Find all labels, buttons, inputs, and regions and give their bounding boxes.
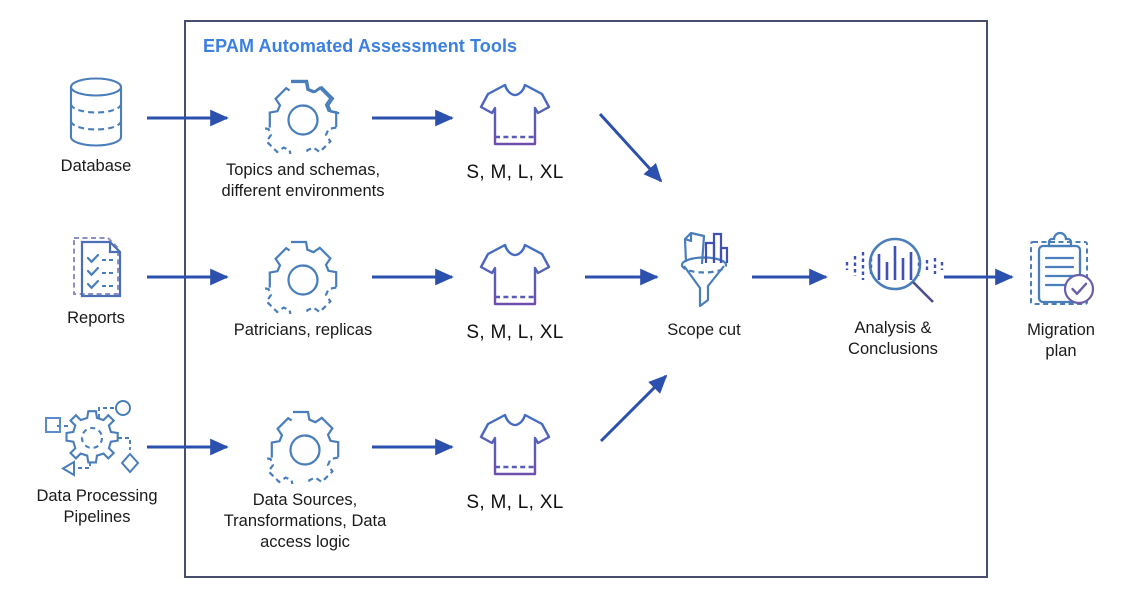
node-tshirt-size-2[interactable]: S, M, L, XL (455, 240, 575, 344)
node-label: Patricians, replicas (234, 320, 372, 341)
gear-icon (265, 78, 341, 154)
database-cylinder-icon (63, 74, 129, 150)
funnel-icon (658, 222, 750, 314)
gear-icon (265, 238, 341, 314)
node-tshirt-size-3[interactable]: S, M, L, XL (455, 410, 575, 514)
node-data-processing-pipelines[interactable]: Data Processing Pipelines (18, 396, 176, 528)
magnifier-chart-icon (837, 232, 949, 312)
page-title: EPAM Automated Assessment Tools (203, 36, 517, 57)
node-analysis-conclusions[interactable]: Analysis & Conclusions (826, 232, 960, 360)
node-label: S, M, L, XL (466, 322, 563, 344)
node-label: S, M, L, XL (466, 492, 563, 514)
tshirt-icon (475, 240, 555, 312)
tshirt-icon (475, 410, 555, 482)
node-scope-cut[interactable]: Scope cut (645, 222, 763, 341)
gear-icon (267, 408, 343, 484)
node-assessment-data-sources[interactable]: Data Sources, Transformations, Data acce… (198, 408, 412, 553)
node-database[interactable]: Database (36, 74, 156, 177)
pipeline-gear-nodes-icon (44, 396, 150, 480)
node-label: Data Sources, Transformations, Data acce… (224, 490, 387, 553)
node-assessment-topics-schemas[interactable]: Topics and schemas, different environmen… (198, 78, 408, 202)
node-label: Analysis & Conclusions (848, 318, 938, 360)
node-label: Topics and schemas, different environmen… (222, 160, 385, 202)
tshirt-icon (475, 80, 555, 152)
node-reports[interactable]: Reports (36, 232, 156, 329)
node-label: Scope cut (667, 320, 740, 341)
node-label: Migration plan (1027, 320, 1095, 362)
document-checklist-icon (64, 232, 128, 302)
node-label: Reports (67, 308, 125, 329)
diagram-canvas: EPAM Automated Assessment Tools (0, 0, 1128, 596)
node-label: Database (61, 156, 132, 177)
clipboard-check-icon (1018, 226, 1104, 314)
node-label: S, M, L, XL (466, 162, 563, 184)
node-tshirt-size-1[interactable]: S, M, L, XL (455, 80, 575, 184)
node-migration-plan[interactable]: Migration plan (1002, 226, 1120, 362)
node-assessment-patricians-replicas[interactable]: Patricians, replicas (198, 238, 408, 341)
node-label: Data Processing Pipelines (36, 486, 157, 528)
